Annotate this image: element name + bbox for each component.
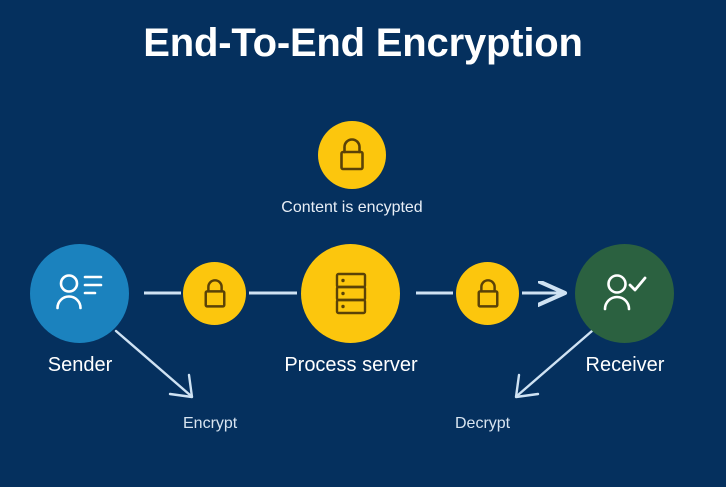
node-receiver[interactable] — [575, 244, 674, 343]
label-encrypt: Encrypt — [183, 414, 237, 434]
lock-icon — [335, 136, 369, 174]
lock-icon — [200, 277, 230, 311]
label-sender: Sender — [0, 353, 160, 377]
node-sender[interactable] — [30, 244, 129, 343]
lock-node-content-encrypted — [318, 121, 386, 189]
label-content-encrypted: Content is encypted — [202, 197, 502, 219]
diagram-canvas: End-To-End Encryption Content is encypte… — [0, 0, 726, 487]
label-decrypt: Decrypt — [455, 414, 510, 434]
person-lines-icon — [55, 271, 105, 317]
label-process-server: Process server — [251, 353, 451, 377]
lock-icon — [473, 277, 503, 311]
node-process-server[interactable] — [301, 244, 400, 343]
label-receiver: Receiver — [545, 353, 705, 377]
server-rack-icon — [332, 271, 370, 317]
lock-node-encrypt — [183, 262, 246, 325]
lock-node-decrypt — [456, 262, 519, 325]
person-check-icon — [601, 271, 649, 317]
